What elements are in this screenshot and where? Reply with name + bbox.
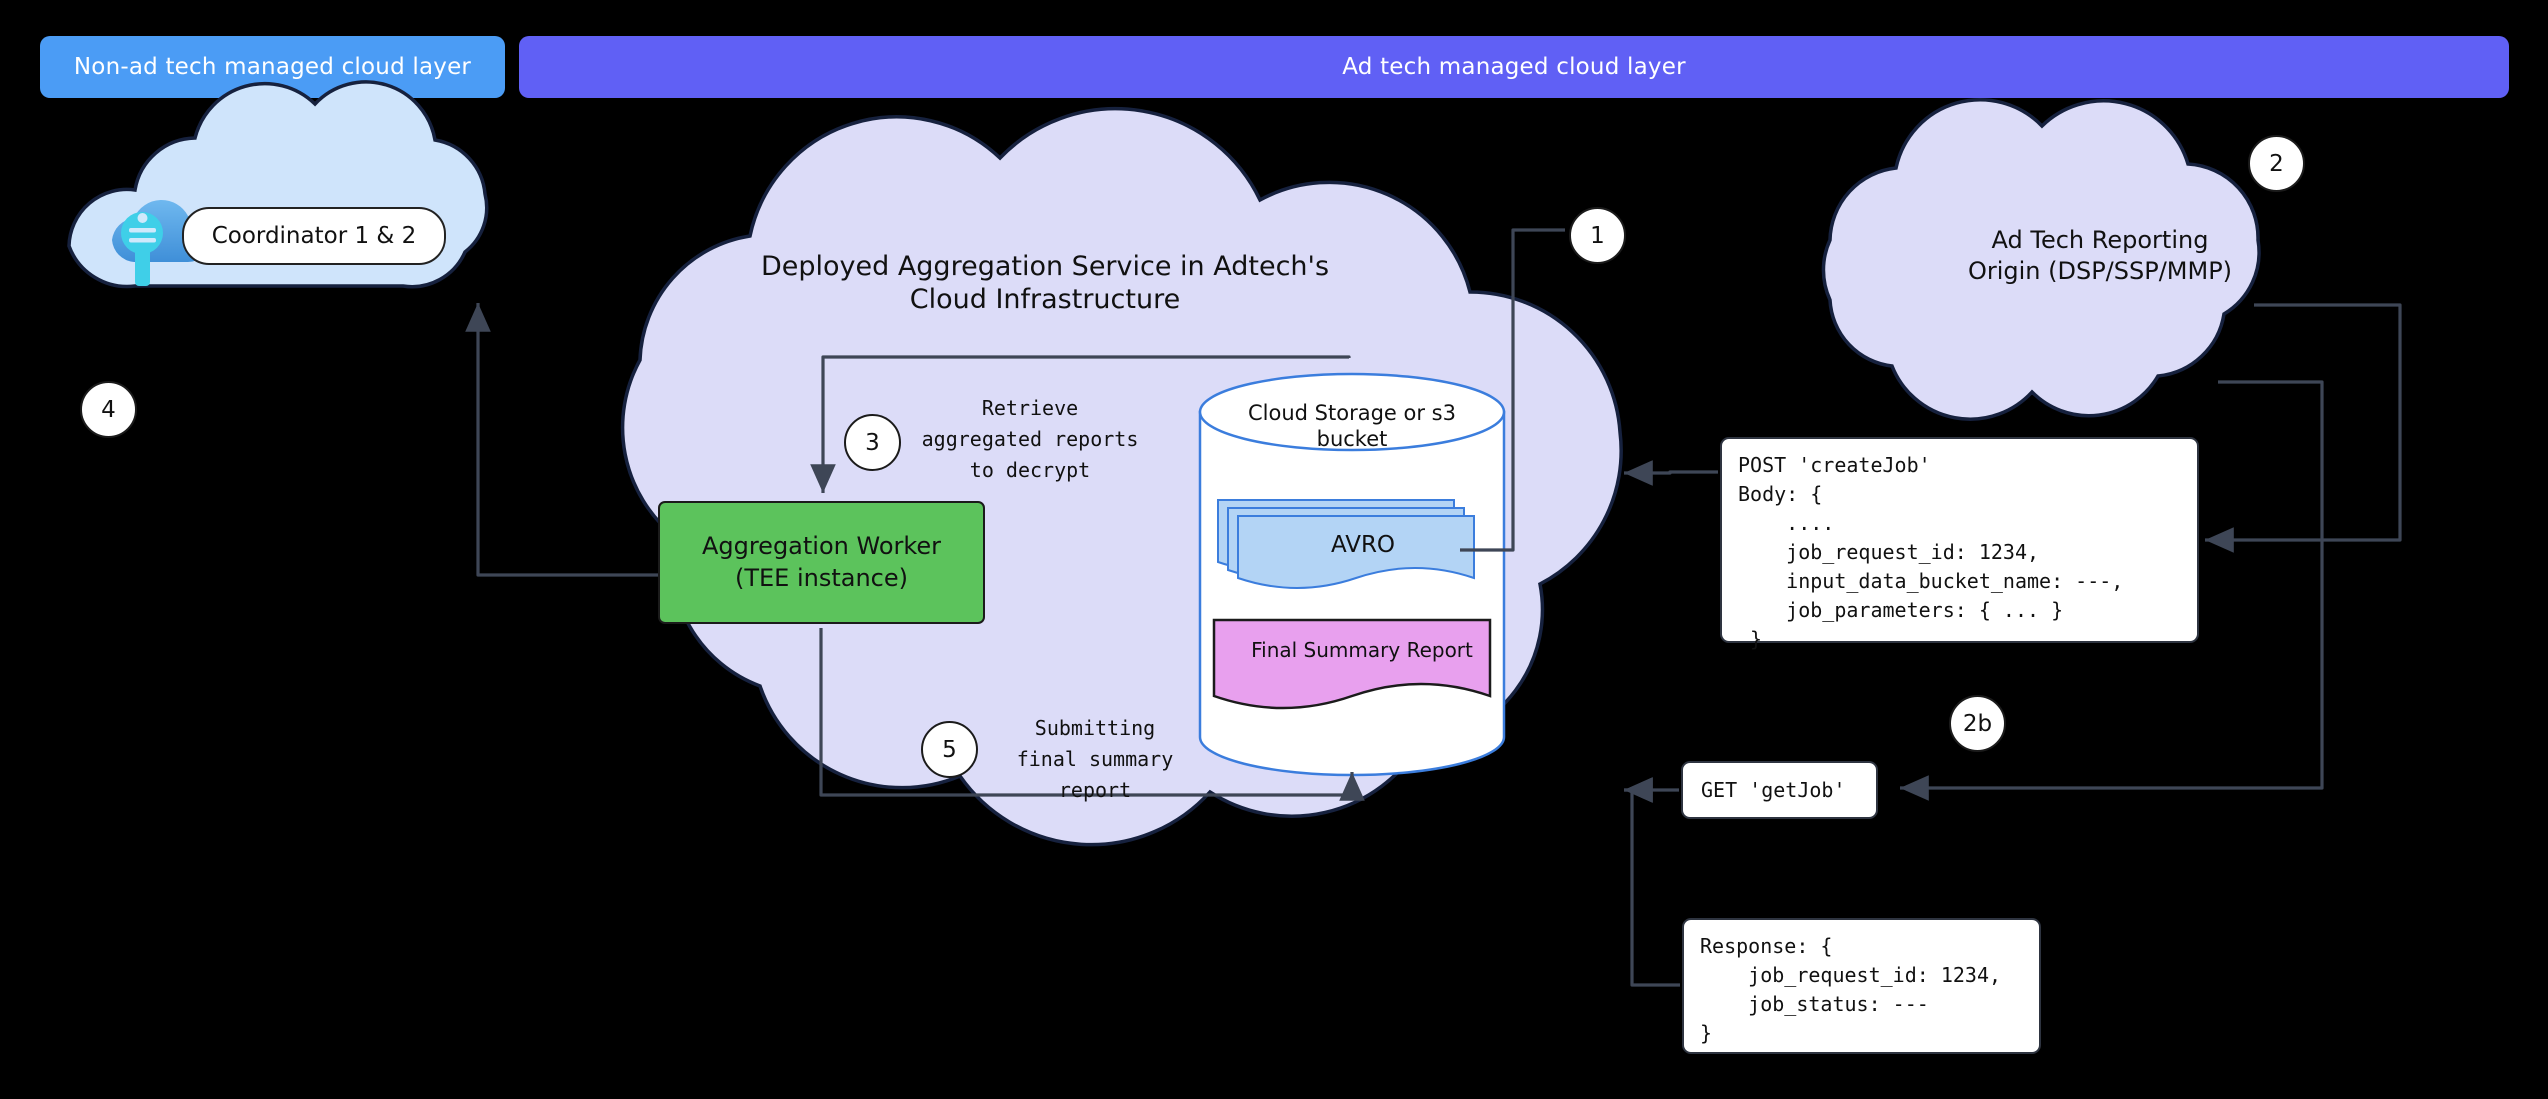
step-badge-2: 2 [2248,135,2305,192]
step-badge-2b: 2b [1949,695,2006,752]
main-title-line2: Cloud Infrastructure [761,283,1329,316]
coordinator-label: Coordinator 1 & 2 [212,223,417,249]
final-summary-report-label: Final Summary Report [1222,638,1502,662]
step-badge-3: 3 [844,414,901,471]
bucket-title-line2: bucket [1248,426,1456,452]
step-3-label: 3 [865,430,880,456]
origin-line1: Ad Tech Reporting [1968,225,2232,256]
step-4-label: 4 [101,397,116,423]
origin-cloud-title: Ad Tech Reporting Origin (DSP/SSP/MMP) [1840,225,2360,287]
edge-step2-origin-to-createjob [2205,305,2400,540]
createjob-request-box: POST 'createJob' Body: { .... job_reques… [1720,437,2199,643]
getjob-response-box: Response: { job_request_id: 1234, job_st… [1682,918,2041,1054]
diagram-canvas: Non-ad tech managed cloud layer Ad tech … [0,0,2548,1099]
step-badge-1: 1 [1569,207,1626,264]
getjob-request-box: GET 'getJob' [1681,761,1878,819]
aggregation-worker-node[interactable]: Aggregation Worker (TEE instance) [658,501,985,624]
coordinator-node[interactable]: Coordinator 1 & 2 [182,207,446,265]
step-2b-label: 2b [1963,711,1992,737]
bucket-title-line1: Cloud Storage or s3 [1248,400,1456,426]
step-5-label: 5 [942,737,957,763]
step-badge-4: 4 [80,381,137,438]
step3-description: Retrieve aggregated reports to decrypt [905,393,1155,486]
step-2-label: 2 [2269,151,2284,177]
main-title-line1: Deployed Aggregation Service in Adtech's [761,250,1329,283]
worker-line1: Aggregation Worker [702,531,941,562]
origin-line2: Origin (DSP/SSP/MMP) [1968,256,2232,287]
step-1-label: 1 [1590,223,1605,249]
worker-line2: (TEE instance) [702,563,941,594]
edge-createjob-to-cloud [1624,472,1718,473]
step-badge-5: 5 [921,721,978,778]
avro-label: AVRO [1248,532,1478,558]
edge-response-to-cloud [1632,790,1680,985]
bucket-title: Cloud Storage or s3 bucket [1238,400,1466,453]
step5-description: Submitting final summary report [1000,713,1190,806]
main-cloud-title: Deployed Aggregation Service in Adtech's… [690,250,1400,317]
